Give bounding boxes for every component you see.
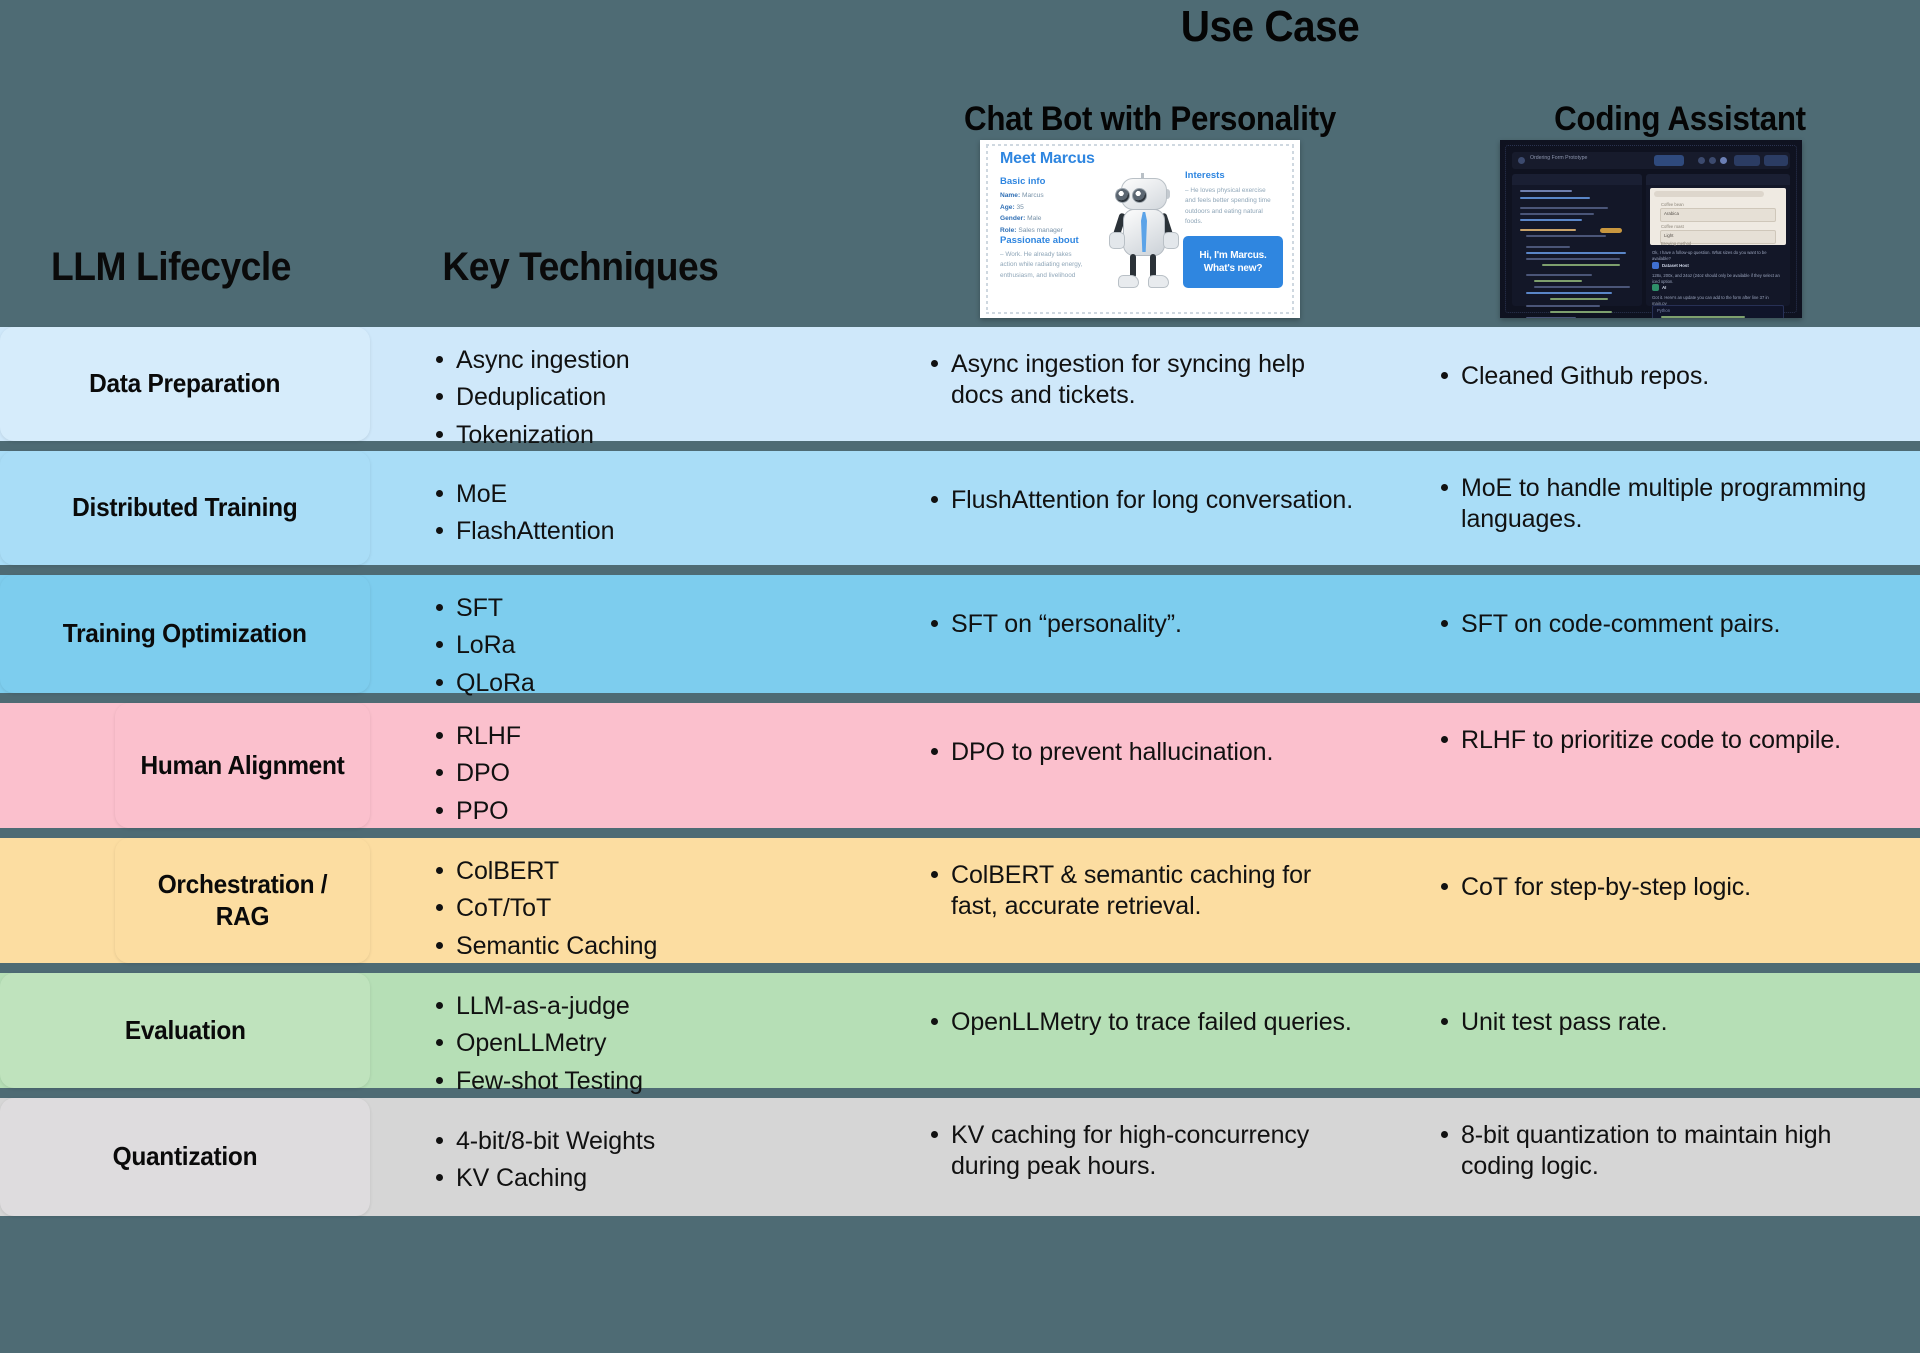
cell-chatbot-usecase: SFT on “personality”. [925,575,1355,644]
robot-eye-right [1132,188,1147,203]
row-label-text: Distributed Training [72,492,297,523]
matrix-row: Data PreparationAsync ingestionDeduplica… [0,327,1920,441]
search-icon[interactable] [1698,157,1705,164]
bullet-item: DPO to prevent hallucination. [925,737,1355,768]
slide-body-passionate: – Work. He already takes action while ra… [1000,250,1085,281]
bullet-item: 8-bit quantization to maintain high codi… [1435,1120,1905,1181]
row-label-orchestration-rag[interactable]: Orchestration / RAG [115,838,370,963]
cell-chatbot-usecase: Async ingestion for syncing help docs an… [925,327,1355,414]
cell-chatbot-usecase: FlushAttention for long conversation. [925,451,1355,520]
bullet-item: RLHF [430,721,870,752]
matrix-row: Human AlignmentRLHFDPOPPODPO to prevent … [0,703,1920,828]
bullet-list: Cleaned Github repos. [1435,361,1905,392]
bullet-item: KV caching for high-concurrency during p… [925,1120,1355,1181]
bullet-item: SFT [430,593,870,624]
slide-body-interests: – He loves physical exercise and feels b… [1185,186,1277,227]
ide-chat-user-message: 128x, 200x, and 24oz (24oz should only b… [1652,273,1784,286]
bullet-list: OpenLLMetry to trace failed queries. [925,1007,1355,1038]
robot-illustration [1108,178,1178,293]
ide-preview-panel[interactable]: Coffee bean Arabica Coffee roast Light B… [1646,174,1790,306]
bullet-list: SFTLoRaQLoRa [430,593,870,699]
row-label-data-preparation[interactable]: Data Preparation [0,327,370,441]
bullet-list: Async ingestion for syncing help docs an… [925,349,1355,410]
avatar[interactable] [1720,157,1727,164]
bullet-list: Async ingestionDeduplicationTokenization [430,345,870,451]
cell-chatbot-usecase: DPO to prevent hallucination. [925,703,1355,772]
cell-coding-usecase: MoE to handle multiple programming langu… [1435,451,1905,538]
bullet-item: MoE [430,479,870,510]
preview-label-brewing: Brewing method [1661,241,1691,246]
matrix-row: Quantization4-bit/8-bit WeightsKV Cachin… [0,1098,1920,1216]
cell-key-techniques: RLHFDPOPPO [430,703,870,833]
bullet-list: CoT for step-by-step logic. [1435,872,1905,903]
ide-editor-tabbar[interactable] [1512,174,1642,185]
matrix-row: Orchestration / RAGColBERTCoT/ToTSemanti… [0,838,1920,963]
ide-inline-badge [1600,228,1622,233]
row-label-text: Data Preparation [89,368,280,399]
robot-hand-right [1163,232,1179,249]
chevron-right-icon [1518,157,1525,164]
bullet-list: Unit test pass rate. [1435,1007,1905,1038]
bullet-item: CoT for step-by-step logic. [1435,872,1905,903]
cell-chatbot-usecase: OpenLLMetry to trace failed queries. [925,973,1355,1042]
ide-chat-agent-avatar [1652,284,1659,291]
bullet-item: OpenLLMetry to trace failed queries. [925,1007,1355,1038]
bullet-item: MoE to handle multiple programming langu… [1435,473,1905,534]
infographic-canvas: Use Case Chat Bot with Personality Codin… [0,0,1920,1353]
bullet-list: LLM-as-a-judgeOpenLLMetryFew-shot Testin… [430,991,870,1097]
slide-basic-info-fields: Name: Marcus Age: 35 Gender: Male Role: … [1000,190,1063,236]
row-label-quantization[interactable]: Quantization [0,1098,370,1216]
bullet-list: FlushAttention for long conversation. [925,485,1355,516]
bullet-list: SFT on code-comment pairs. [1435,609,1905,640]
ide-stop-button[interactable] [1654,155,1684,166]
slide-dotted-border-right [1292,145,1294,313]
bullet-list: MoEFlashAttention [430,479,870,548]
slide-heading-passionate: Passionate about [1000,235,1079,246]
row-label-distributed-training[interactable]: Distributed Training [0,451,370,565]
bullet-list: ColBERTCoT/ToTSemantic Caching [430,856,870,962]
row-label-evaluation[interactable]: Evaluation [0,973,370,1088]
lane-header-lifecycle: LLM Lifecycle [51,245,291,290]
lane-header-techniques: Key Techniques [442,245,718,290]
ide-deploy-button[interactable] [1764,155,1788,166]
bullet-item: PPO [430,796,870,827]
slide-heading-interests: Interests [1185,170,1225,181]
column-header-chatbot: Chat Bot with Personality [902,100,1399,139]
cell-coding-usecase: CoT for step-by-step logic. [1435,838,1905,907]
cell-key-techniques: LLM-as-a-judgeOpenLLMetryFew-shot Testin… [430,973,870,1103]
slide-dotted-border-bottom [986,312,1294,314]
slide-title: Meet Marcus [1000,150,1095,168]
bullet-list: DPO to prevent hallucination. [925,737,1355,768]
ide-canvas: Ordering Form Prototype [1500,140,1802,318]
ide-titlebar: Ordering Form Prototype [1512,152,1790,169]
bullet-item: DPO [430,758,870,789]
ide-code-editor[interactable] [1512,174,1642,306]
cell-coding-usecase: SFT on code-comment pairs. [1435,575,1905,644]
slide-canvas: Meet Marcus Basic info Name: Marcus Age:… [980,140,1300,318]
cell-key-techniques: Async ingestionDeduplicationTokenization [430,327,870,457]
bullet-item: LoRa [430,630,870,661]
ide-preview-tabbar[interactable] [1646,174,1790,185]
row-label-text: Orchestration / RAG [136,869,349,931]
robot-foot-right [1148,275,1169,288]
bullet-item: ColBERT [430,856,870,887]
matrix-row: Training OptimizationSFTLoRaQLoRaSFT on … [0,575,1920,693]
row-label-text: Quantization [113,1141,258,1172]
cell-chatbot-usecase: KV caching for high-concurrency during p… [925,1098,1355,1185]
preview-label-bean: Coffee bean [1661,202,1684,207]
bullet-list: RLHFDPOPPO [430,721,870,827]
ide-code-lang-label: Python [1657,308,1670,313]
bullet-list: KV caching for high-concurrency during p… [925,1120,1355,1181]
bullet-item: FlashAttention [430,516,870,547]
bullet-item: Tokenization [430,420,870,451]
bullet-item: OpenLLMetry [430,1028,870,1059]
ide-chat-user-name: Dataset Host [1662,263,1689,268]
ide-invite-button[interactable] [1734,155,1760,166]
bullet-item: SFT on “personality”. [925,609,1355,640]
ide-web-preview[interactable]: Coffee bean Arabica Coffee roast Light B… [1650,188,1786,245]
preview-label-roast: Coffee roast [1661,224,1684,229]
cell-coding-usecase: Cleaned Github repos. [1435,327,1905,396]
bullet-item: Cleaned Github repos. [1435,361,1905,392]
bullet-item: KV Caching [430,1163,870,1194]
cell-coding-usecase: 8-bit quantization to maintain high codi… [1435,1098,1905,1185]
slide-heading-basic-info: Basic info [1000,176,1045,187]
bullet-item: Unit test pass rate. [1435,1007,1905,1038]
slide-speech-bubble: Hi, I'm Marcus. What's new? [1183,236,1283,288]
row-label-text: Human Alignment [141,750,345,781]
field-key-age: Age: [1000,204,1015,211]
bullet-list: SFT on “personality”. [925,609,1355,640]
field-value-age: 35 [1017,204,1024,211]
cell-chatbot-usecase: ColBERT & semantic caching for fast, acc… [925,838,1355,925]
slide-dotted-border-left [986,145,988,313]
bullet-list: RLHF to prioritize code to compile. [1435,725,1905,756]
field-value-gender: Male [1027,215,1041,222]
row-label-text: Training Optimization [63,618,307,649]
bullet-list: 8-bit quantization to maintain high codi… [1435,1120,1905,1181]
cell-coding-usecase: RLHF to prioritize code to compile. [1435,703,1905,760]
field-key-role: Role: [1000,227,1016,234]
field-value-name: Marcus [1022,192,1044,199]
thumbnail-chatbot-slide: Meet Marcus Basic info Name: Marcus Age:… [980,140,1300,318]
bullet-item: Async ingestion [430,345,870,376]
bullet-item: SFT on code-comment pairs. [1435,609,1905,640]
bullet-list: MoE to handle multiple programming langu… [1435,473,1905,534]
bullet-item: Semantic Caching [430,931,870,962]
row-label-text: Evaluation [125,1015,246,1046]
field-value-role: Sales manager [1018,227,1062,234]
robot-foot-left [1118,275,1139,288]
bullet-list: 4-bit/8-bit WeightsKV Caching [430,1126,870,1195]
cell-key-techniques: ColBERTCoT/ToTSemantic Caching [430,838,870,968]
page-title: Use Case [1040,2,1500,52]
bullet-item: RLHF to prioritize code to compile. [1435,725,1905,756]
slide-dotted-border-top [986,144,1294,146]
bullet-item: FlushAttention for long conversation. [925,485,1355,516]
bullet-item: QLoRa [430,668,870,699]
matrix-row: Distributed TrainingMoEFlashAttentionFlu… [0,451,1920,565]
bullet-item: Async ingestion for syncing help docs an… [925,349,1355,410]
bullet-item: Deduplication [430,382,870,413]
ide-chat-prompt: Ok, I have a follow-up question. What si… [1652,250,1784,263]
cell-key-techniques: MoEFlashAttention [430,451,870,554]
cell-coding-usecase: Unit test pass rate. [1435,973,1905,1042]
ide-project-title: Ordering Form Prototype [1530,155,1587,161]
row-label-human-alignment[interactable]: Human Alignment [115,703,370,828]
ide-url-bar[interactable] [1654,191,1764,197]
preview-value-roast: Light [1664,233,1674,238]
bullet-item: Few-shot Testing [430,1066,870,1097]
robot-eye-left [1115,188,1130,203]
bullet-item: LLM-as-a-judge [430,991,870,1022]
matrix-row: EvaluationLLM-as-a-judgeOpenLLMetryFew-s… [0,973,1920,1088]
ide-chat-code-block: Python [1652,305,1784,318]
cell-key-techniques: 4-bit/8-bit WeightsKV Caching [430,1098,870,1201]
preview-value-bean: Arabica [1664,211,1679,216]
bullet-item: ColBERT & semantic caching for fast, acc… [925,860,1355,921]
bullet-item: 4-bit/8-bit Weights [430,1126,870,1157]
bullet-item: CoT/ToT [430,893,870,924]
field-key-gender: Gender: [1000,215,1025,222]
row-label-training-optimization[interactable]: Training Optimization [0,575,370,693]
robot-hand-left [1109,232,1125,249]
header-zone: Use Case Chat Bot with Personality Codin… [0,0,1920,327]
field-key-name: Name: [1000,192,1020,199]
column-header-coding: Coding Assistant [1459,100,1901,139]
git-branch-icon[interactable] [1709,157,1716,164]
ide-chat-agent-name: AI [1662,285,1666,290]
bullet-list: ColBERT & semantic caching for fast, acc… [925,860,1355,921]
thumbnail-coding-ide: Ordering Form Prototype [1500,140,1802,318]
cell-key-techniques: SFTLoRaQLoRa [430,575,870,705]
ide-chat-user-avatar [1652,262,1659,269]
